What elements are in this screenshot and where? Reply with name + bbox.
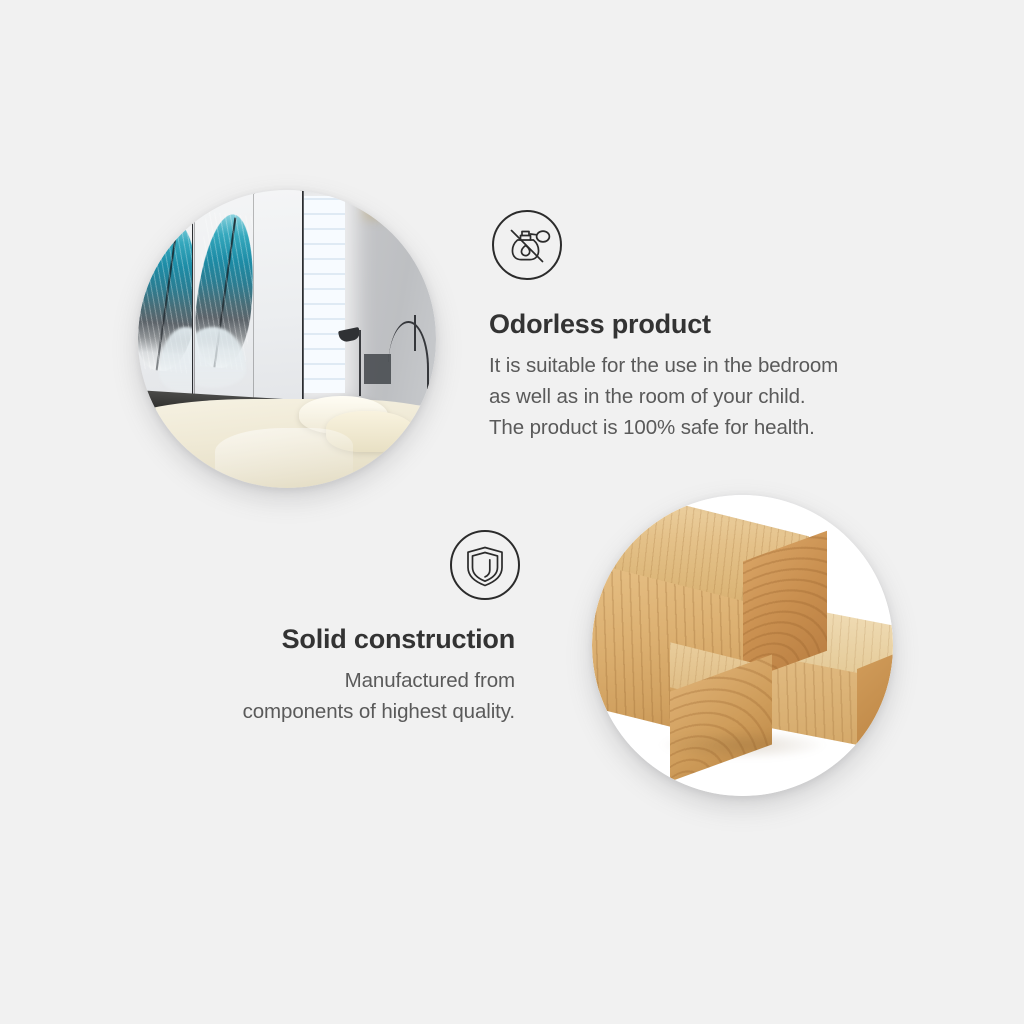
art-panel-2: [195, 190, 255, 411]
shield-icon: [450, 530, 520, 600]
wood-scene: [592, 495, 893, 796]
floor-lamp-pole: [359, 330, 361, 396]
feature-title-odorless: Odorless product: [489, 310, 929, 340]
arc-lamp-stem: [414, 315, 416, 351]
bedroom-scene: [138, 190, 436, 488]
art-panel-3: [254, 190, 302, 411]
nightstand: [364, 354, 391, 384]
art-panel-1: [138, 190, 192, 411]
bedroom-feather-wall-art-photo: [138, 190, 436, 488]
feature-body-odorless: It is suitable for the use in the bedroo…: [489, 350, 929, 443]
feature-body-line: The product is 100% safe for health.: [489, 412, 929, 443]
no-perfume-icon: [492, 210, 562, 280]
duvet-fold: [215, 428, 352, 488]
photo-inner: [138, 190, 436, 488]
feature-body-line: as well as in the room of your child.: [489, 381, 929, 412]
wooden-beams-photo: [592, 495, 893, 796]
infographic-stage: Odorless product It is suitable for the …: [0, 0, 1024, 1024]
feature-body-solid-construction: Manufactured from components of highest …: [95, 665, 515, 727]
glass-block-window: [303, 196, 345, 393]
feature-body-line: It is suitable for the use in the bedroo…: [489, 350, 929, 381]
feature-text-odorless: Odorless product It is suitable for the …: [489, 310, 929, 443]
wood-contact-shadow: [658, 730, 827, 760]
no-perfume-glyph: [494, 212, 560, 278]
shield-glyph: [452, 532, 518, 598]
photo-inner: [592, 495, 893, 796]
feature-text-solid-construction: Solid construction Manufactured from com…: [95, 625, 515, 727]
feature-body-line: Manufactured from: [95, 665, 515, 696]
feature-title-solid-construction: Solid construction: [95, 625, 515, 655]
feature-body-line: components of highest quality.: [95, 696, 515, 727]
